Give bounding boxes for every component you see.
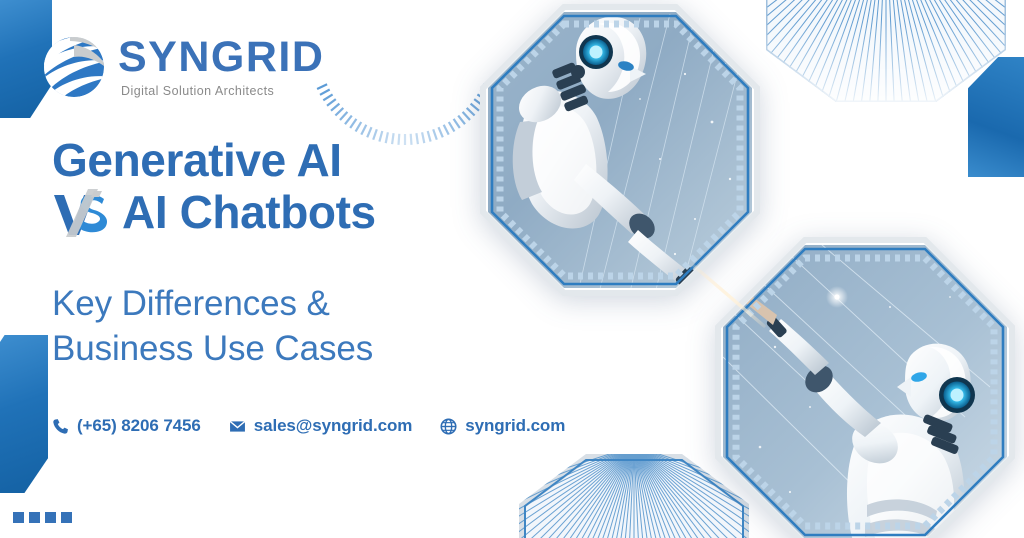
contact-website[interactable]: syngrid.com bbox=[440, 416, 565, 436]
headline-line-2-wrap: AI Chatbots bbox=[52, 187, 482, 239]
square-dashes-bottom-left bbox=[13, 512, 72, 523]
sunburst-octagon-icon bbox=[766, 0, 1006, 102]
brand-logo[interactable]: SYNGRID Digital Solution Architects bbox=[40, 33, 324, 101]
connection-spark bbox=[690, 262, 770, 332]
subheadline-line-2: Business Use Cases bbox=[52, 327, 482, 372]
square-dash bbox=[29, 512, 40, 523]
contact-phone[interactable]: (+65) 8206 7456 bbox=[52, 416, 201, 436]
contact-website-label: syngrid.com bbox=[465, 416, 565, 436]
globe-swoosh-icon bbox=[40, 33, 108, 101]
contact-email-label: sales@syngrid.com bbox=[254, 416, 413, 436]
headline: Generative AI AI Chatbots bbox=[52, 135, 482, 238]
contact-phone-label: (+65) 8206 7456 bbox=[77, 416, 201, 436]
edge-shape-mid bbox=[0, 335, 48, 493]
subheadline-line-1: Key Differences & bbox=[52, 282, 482, 327]
envelope-icon bbox=[229, 418, 246, 435]
subheadline: Key Differences & Business Use Cases bbox=[52, 282, 482, 372]
headline-line-1: Generative AI bbox=[52, 135, 482, 187]
versus-icon bbox=[52, 187, 110, 237]
brand-tagline: Digital Solution Architects bbox=[121, 85, 324, 98]
square-dash bbox=[61, 512, 72, 523]
headline-line-2: AI Chatbots bbox=[122, 187, 376, 239]
globe-icon bbox=[440, 418, 457, 435]
banner-canvas: SYNGRID Digital Solution Architects Gene… bbox=[0, 0, 1024, 538]
brand-name: SYNGRID bbox=[118, 36, 324, 79]
phone-icon bbox=[52, 418, 69, 435]
square-dash bbox=[13, 512, 24, 523]
contact-row: (+65) 8206 7456 sales@syngrid.com syngri… bbox=[52, 416, 565, 436]
contact-email[interactable]: sales@syngrid.com bbox=[229, 416, 413, 436]
square-dash bbox=[45, 512, 56, 523]
